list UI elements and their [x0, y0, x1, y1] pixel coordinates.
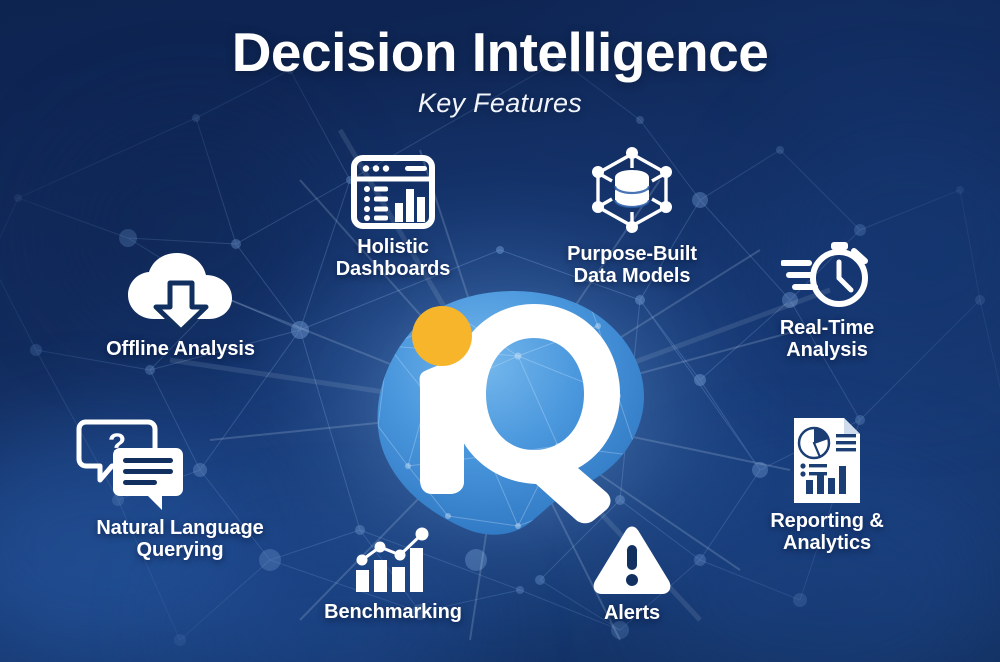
report-document-icon — [794, 418, 860, 503]
feature-label: Alerts — [557, 602, 707, 624]
feature-alerts[interactable]: Alerts — [557, 525, 707, 624]
header: Decision Intelligence Key Features — [0, 24, 1000, 119]
feature-offline-analysis[interactable]: Offline Analysis — [73, 253, 288, 360]
page-subtitle: Key Features — [0, 88, 1000, 119]
feature-natural-language-querying[interactable]: ? Natural Language Querying — [70, 418, 290, 562]
data-model-network-icon — [588, 144, 676, 236]
infographic-canvas: Decision Intelligence Key Features — [0, 0, 1000, 662]
speech-bubbles-icon: ? — [76, 418, 184, 510]
dashboard-window-icon — [351, 155, 435, 229]
bar-chart-trend-icon — [354, 524, 432, 594]
iq-logo — [368, 286, 658, 544]
feature-purpose-built-data-models[interactable]: Purpose-Built Data Models — [532, 144, 732, 288]
cloud-download-icon — [126, 253, 236, 331]
feature-label: Reporting & Analytics — [737, 510, 917, 555]
feature-label: Real-Time Analysis — [737, 317, 917, 362]
logo-dot — [412, 306, 472, 366]
feature-real-time-analysis[interactable]: Real-Time Analysis — [737, 238, 917, 362]
feature-label: Natural Language Querying — [70, 517, 290, 562]
page-title: Decision Intelligence — [0, 24, 1000, 82]
stopwatch-icon — [781, 238, 873, 310]
feature-benchmarking[interactable]: Benchmarking — [303, 524, 483, 623]
feature-holistic-dashboards[interactable]: Holistic Dashboards — [293, 155, 493, 281]
feature-label: Holistic Dashboards — [293, 236, 493, 281]
warning-triangle-icon — [591, 525, 673, 595]
feature-reporting-analytics[interactable]: Reporting & Analytics — [737, 418, 917, 555]
feature-label: Offline Analysis — [73, 338, 288, 360]
feature-label: Purpose-Built Data Models — [532, 243, 732, 288]
feature-label: Benchmarking — [303, 601, 483, 623]
